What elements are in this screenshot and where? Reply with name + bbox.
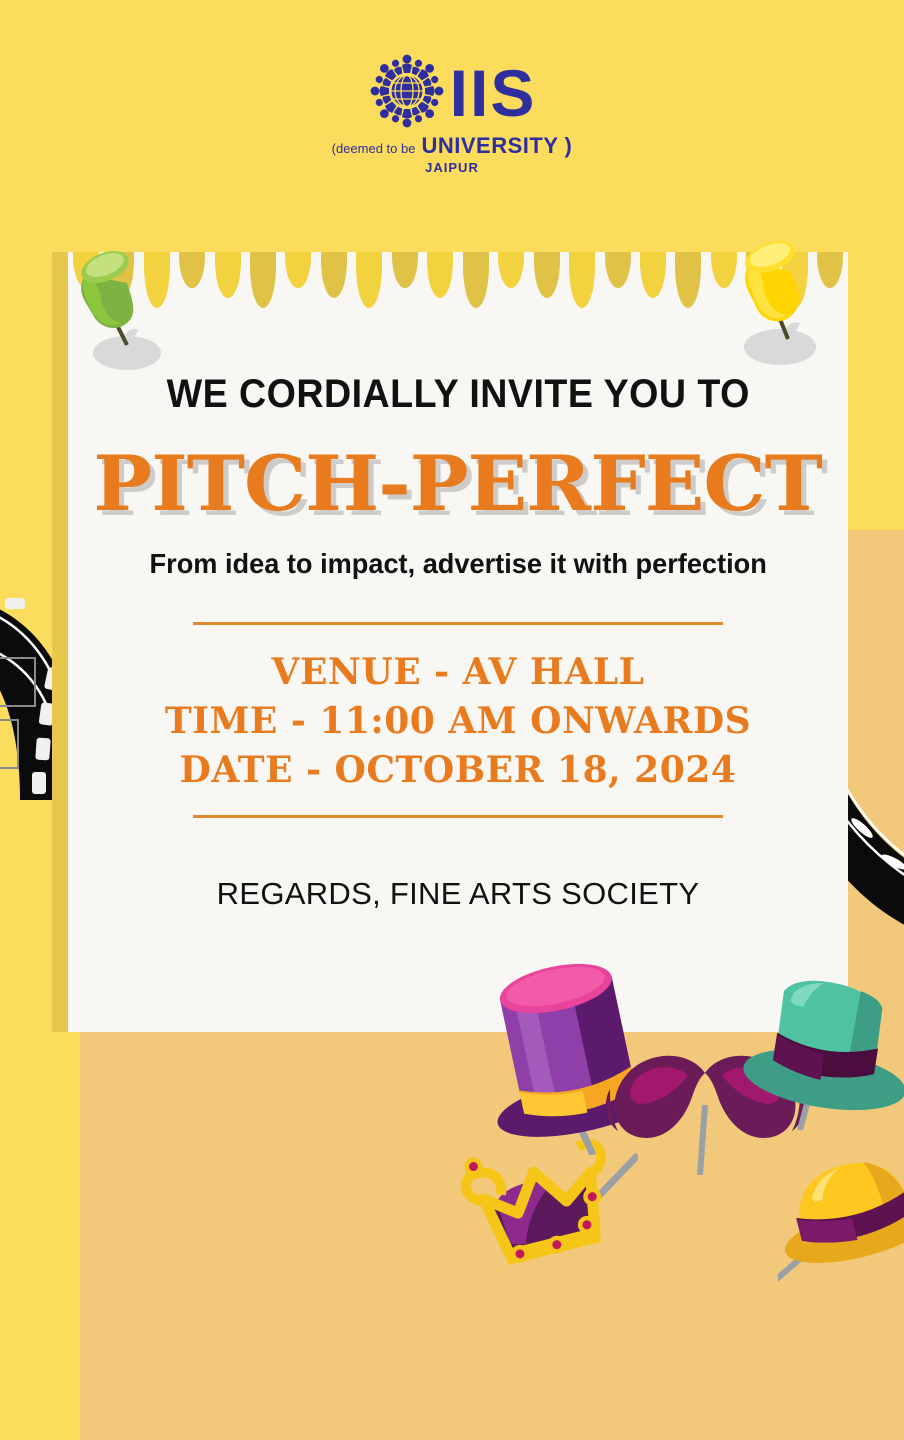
- logo-acronym: IIS: [450, 64, 537, 123]
- card-content: WE CORDIALLY INVITE YOU TO PITCH-PERFECT…: [68, 252, 848, 1032]
- event-details-block: VENUE - AV HALL TIME - 11:00 AM ONWARDS …: [193, 622, 723, 818]
- teal-fedora-prop-icon: [742, 965, 904, 1130]
- logo-closing-paren: ): [565, 133, 573, 159]
- globe-people-emblem-icon: [368, 52, 446, 135]
- logo-university-text: UNIVERSITY: [421, 133, 558, 159]
- yellow-bowler-hat-prop-icon: [778, 1138, 904, 1283]
- regards-line: REGARDS, FINE ARTS SOCIETY: [217, 876, 700, 912]
- detail-date: DATE - OCTOBER 18, 2024: [180, 749, 737, 791]
- event-title: PITCH-PERFECT: [94, 439, 822, 528]
- logo-city-text: JAIPUR: [425, 160, 479, 175]
- logo-deemed-text: (deemed to be: [332, 141, 416, 156]
- detail-time: TIME - 11:00 AM ONWARDS: [165, 700, 751, 742]
- invite-headline: WE CORDIALLY INVITE YOU TO: [166, 372, 749, 417]
- event-tagline: From idea to impact, advertise it with p…: [149, 548, 766, 580]
- university-logo: IIS (deemed to be UNIVERSITY ) JAIPUR: [0, 52, 904, 175]
- detail-venue: VENUE - AV HALL: [272, 651, 645, 693]
